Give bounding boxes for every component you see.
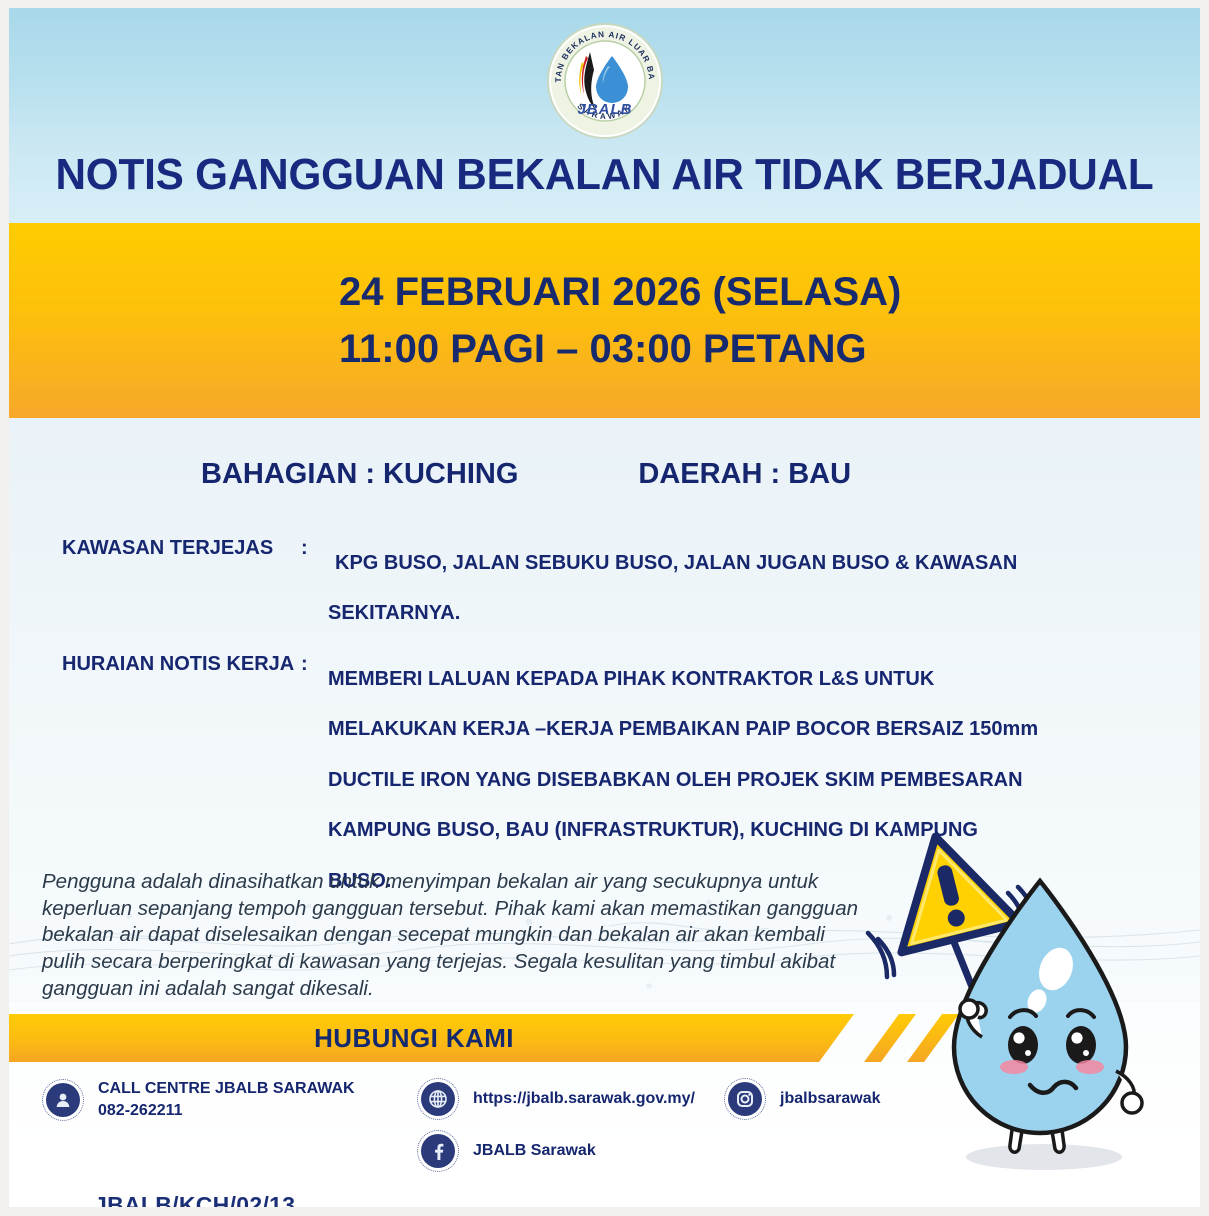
page-title: NOTIS GANGGUAN BEKALAN AIR TIDAK BERJADU…	[33, 150, 1176, 200]
call-centre-text: CALL CENTRE JBALB SARAWAK 082-262211	[98, 1078, 355, 1121]
jbalb-logo: JABATAN BEKALAN AIR LUAR BANDAR SARAWAK …	[546, 22, 664, 140]
globe-glyph	[427, 1088, 449, 1110]
contact-instagram[interactable]: jbalbsarawak	[724, 1078, 881, 1120]
kawasan-line: SEKITARNYA.	[328, 588, 1180, 638]
division-label: BAHAGIAN : KUCHING	[201, 458, 518, 491]
header-banner: JABATAN BEKALAN AIR LUAR BANDAR SARAWAK …	[9, 8, 1200, 223]
reference-number: JBALB/KCH/02/13	[94, 1192, 295, 1207]
contact-website[interactable]: https://jbalb.sarawak.gov.my/	[417, 1078, 695, 1120]
huraian-line: KAMPUNG BUSO, BAU (INFRASTRUKTUR), KUCHI…	[328, 805, 1180, 855]
website-url: https://jbalb.sarawak.gov.my/	[473, 1088, 695, 1110]
instagram-icon	[724, 1078, 766, 1120]
notice-sheet: JABATAN BEKALAN AIR LUAR BANDAR SARAWAK …	[9, 8, 1200, 1207]
call-centre-name: CALL CENTRE JBALB SARAWAK	[98, 1078, 355, 1100]
instagram-handle: jbalbsarawak	[780, 1088, 881, 1110]
facebook-glyph	[428, 1141, 448, 1161]
contact-facebook[interactable]: JBALB Sarawak	[417, 1130, 596, 1172]
instagram-glyph	[735, 1089, 755, 1109]
hubungi-kami-heading: HUBUNGI KAMI	[9, 1014, 819, 1062]
notice-poster: JABATAN BEKALAN AIR LUAR BANDAR SARAWAK …	[0, 0, 1209, 1216]
date-time-band: 24 FEBRUARI 2026 (SELASA) 11:00 PAGI – 0…	[9, 223, 1200, 418]
decorative-slash-icon	[907, 1014, 959, 1062]
svg-text:JBALB: JBALB	[577, 101, 632, 118]
district-label: DAERAH : BAU	[638, 458, 851, 491]
contact-call-centre[interactable]: CALL CENTRE JBALB SARAWAK 082-262211	[42, 1078, 355, 1121]
facebook-page: JBALB Sarawak	[473, 1140, 596, 1162]
kawasan-line: KPG BUSO, JALAN SEBUKU BUSO, JALAN JUGAN…	[328, 538, 1180, 588]
person-glyph	[53, 1090, 73, 1110]
huraian-line: DUCTILE IRON YANG DISEBABKAN OLEH PROJEK…	[328, 755, 1180, 805]
globe-icon	[417, 1078, 459, 1120]
call-centre-phone: 082-262211	[98, 1100, 355, 1122]
huraian-line: MELAKUKAN KERJA –KERJA PEMBAIKAN PAIP BO…	[328, 704, 1180, 754]
hubungi-kami-banner: HUBUNGI KAMI	[9, 1014, 944, 1062]
huraian-line: MEMBERI LALUAN KEPADA PIHAK KONTRAKTOR L…	[328, 654, 1180, 704]
notice-body: BAHAGIAN : KUCHING DAERAH : BAU KAWASAN …	[9, 418, 1200, 1002]
region-row: BAHAGIAN : KUCHING DAERAH : BAU	[9, 458, 1200, 491]
kawasan-colon: :	[301, 538, 328, 639]
decorative-slash-icon	[864, 1014, 916, 1062]
facebook-icon	[417, 1130, 459, 1172]
kawasan-terjejas-value: KPG BUSO, JALAN SEBUKU BUSO, JALAN JUGAN…	[328, 538, 1200, 639]
notice-time: 11:00 PAGI – 03:00 PETANG	[339, 321, 1200, 378]
kawasan-terjejas-label: KAWASAN TERJEJAS	[9, 538, 301, 639]
advisory-text: Pengguna adalah dinasihatkan untuk menyi…	[42, 869, 872, 1002]
contact-section: HUBUNGI KAMI CALL CENTRE JBALB SARAWAK 0…	[9, 1002, 1200, 1207]
person-icon	[42, 1079, 84, 1121]
field-kawasan-terjejas: KAWASAN TERJEJAS : KPG BUSO, JALAN SEBUK…	[9, 538, 1200, 639]
notice-date: 24 FEBRUARI 2026 (SELASA)	[339, 264, 1200, 321]
